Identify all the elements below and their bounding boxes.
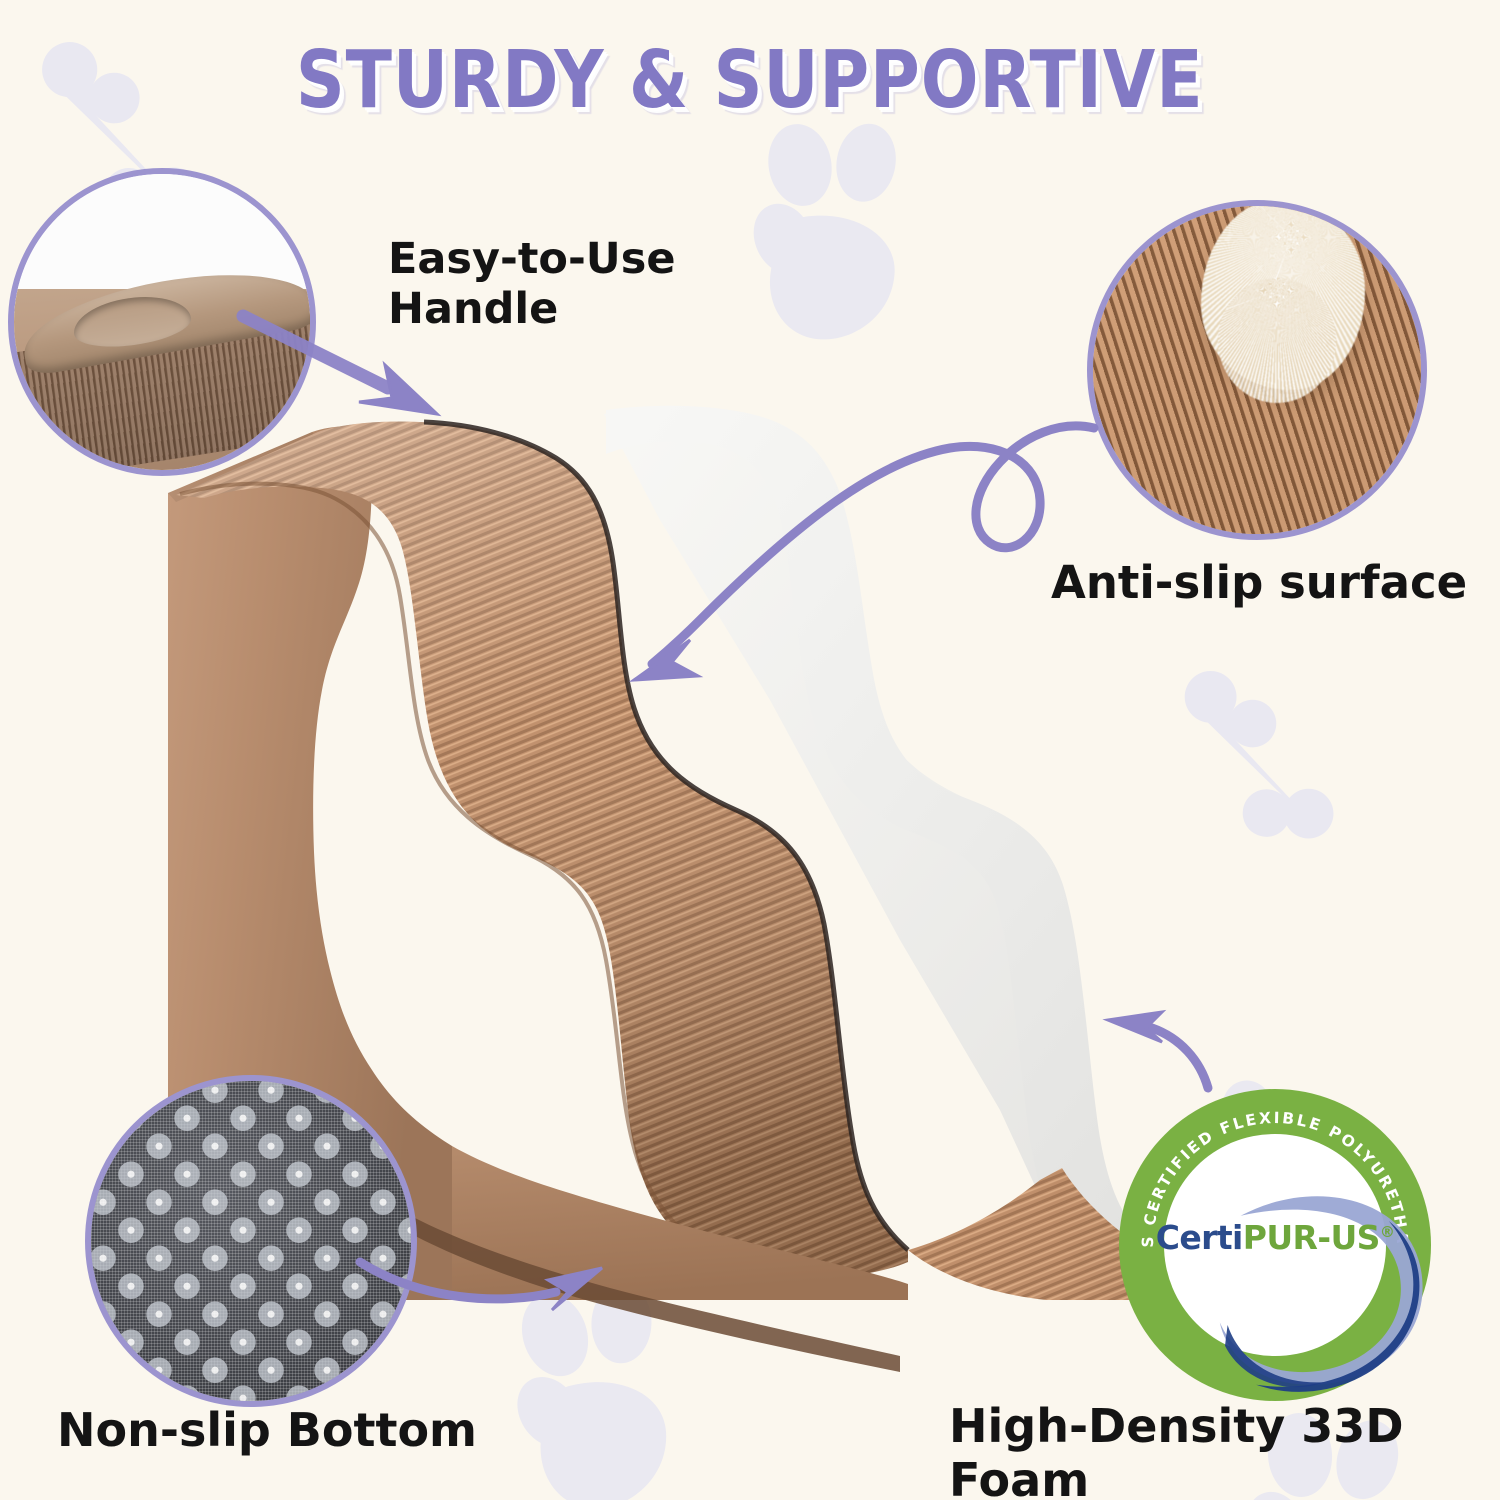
infographic-canvas: STURDY & SUPPORTIVE: [0, 0, 1500, 1500]
label-non-slip-bottom: Non-slip Bottom: [57, 1404, 477, 1458]
label-anti-slip-surface: Anti-slip surface: [1051, 557, 1467, 610]
callout-circle-handle[interactable]: [8, 168, 316, 476]
handle-closeup-icon: [14, 174, 310, 470]
label-easy-to-use-handle: Easy-to-Use Handle: [388, 234, 675, 335]
grip-dots-fabric-icon: [91, 1081, 411, 1401]
headline-container: STURDY & SUPPORTIVE: [0, 34, 1500, 126]
callout-circle-anti-slip[interactable]: [1087, 200, 1427, 540]
badge-registered-mark: ®: [1380, 1223, 1394, 1241]
badge-word-certi: Certi: [1156, 1218, 1243, 1257]
paw-on-corduroy-icon: [1093, 206, 1421, 534]
callout-circle-non-slip-bottom[interactable]: [85, 1075, 417, 1407]
badge-wordmark: CertiPUR-US®: [1119, 1218, 1431, 1257]
page-title: STURDY & SUPPORTIVE: [296, 34, 1204, 126]
label-high-density-foam: High-Density 33D Foam: [949, 1400, 1500, 1500]
badge-word-purus: PUR-US: [1243, 1218, 1380, 1257]
certipur-badge-icon: CONTAINS CERTIFIED FLEXIBLE POLYURETHANE…: [1119, 1089, 1431, 1401]
